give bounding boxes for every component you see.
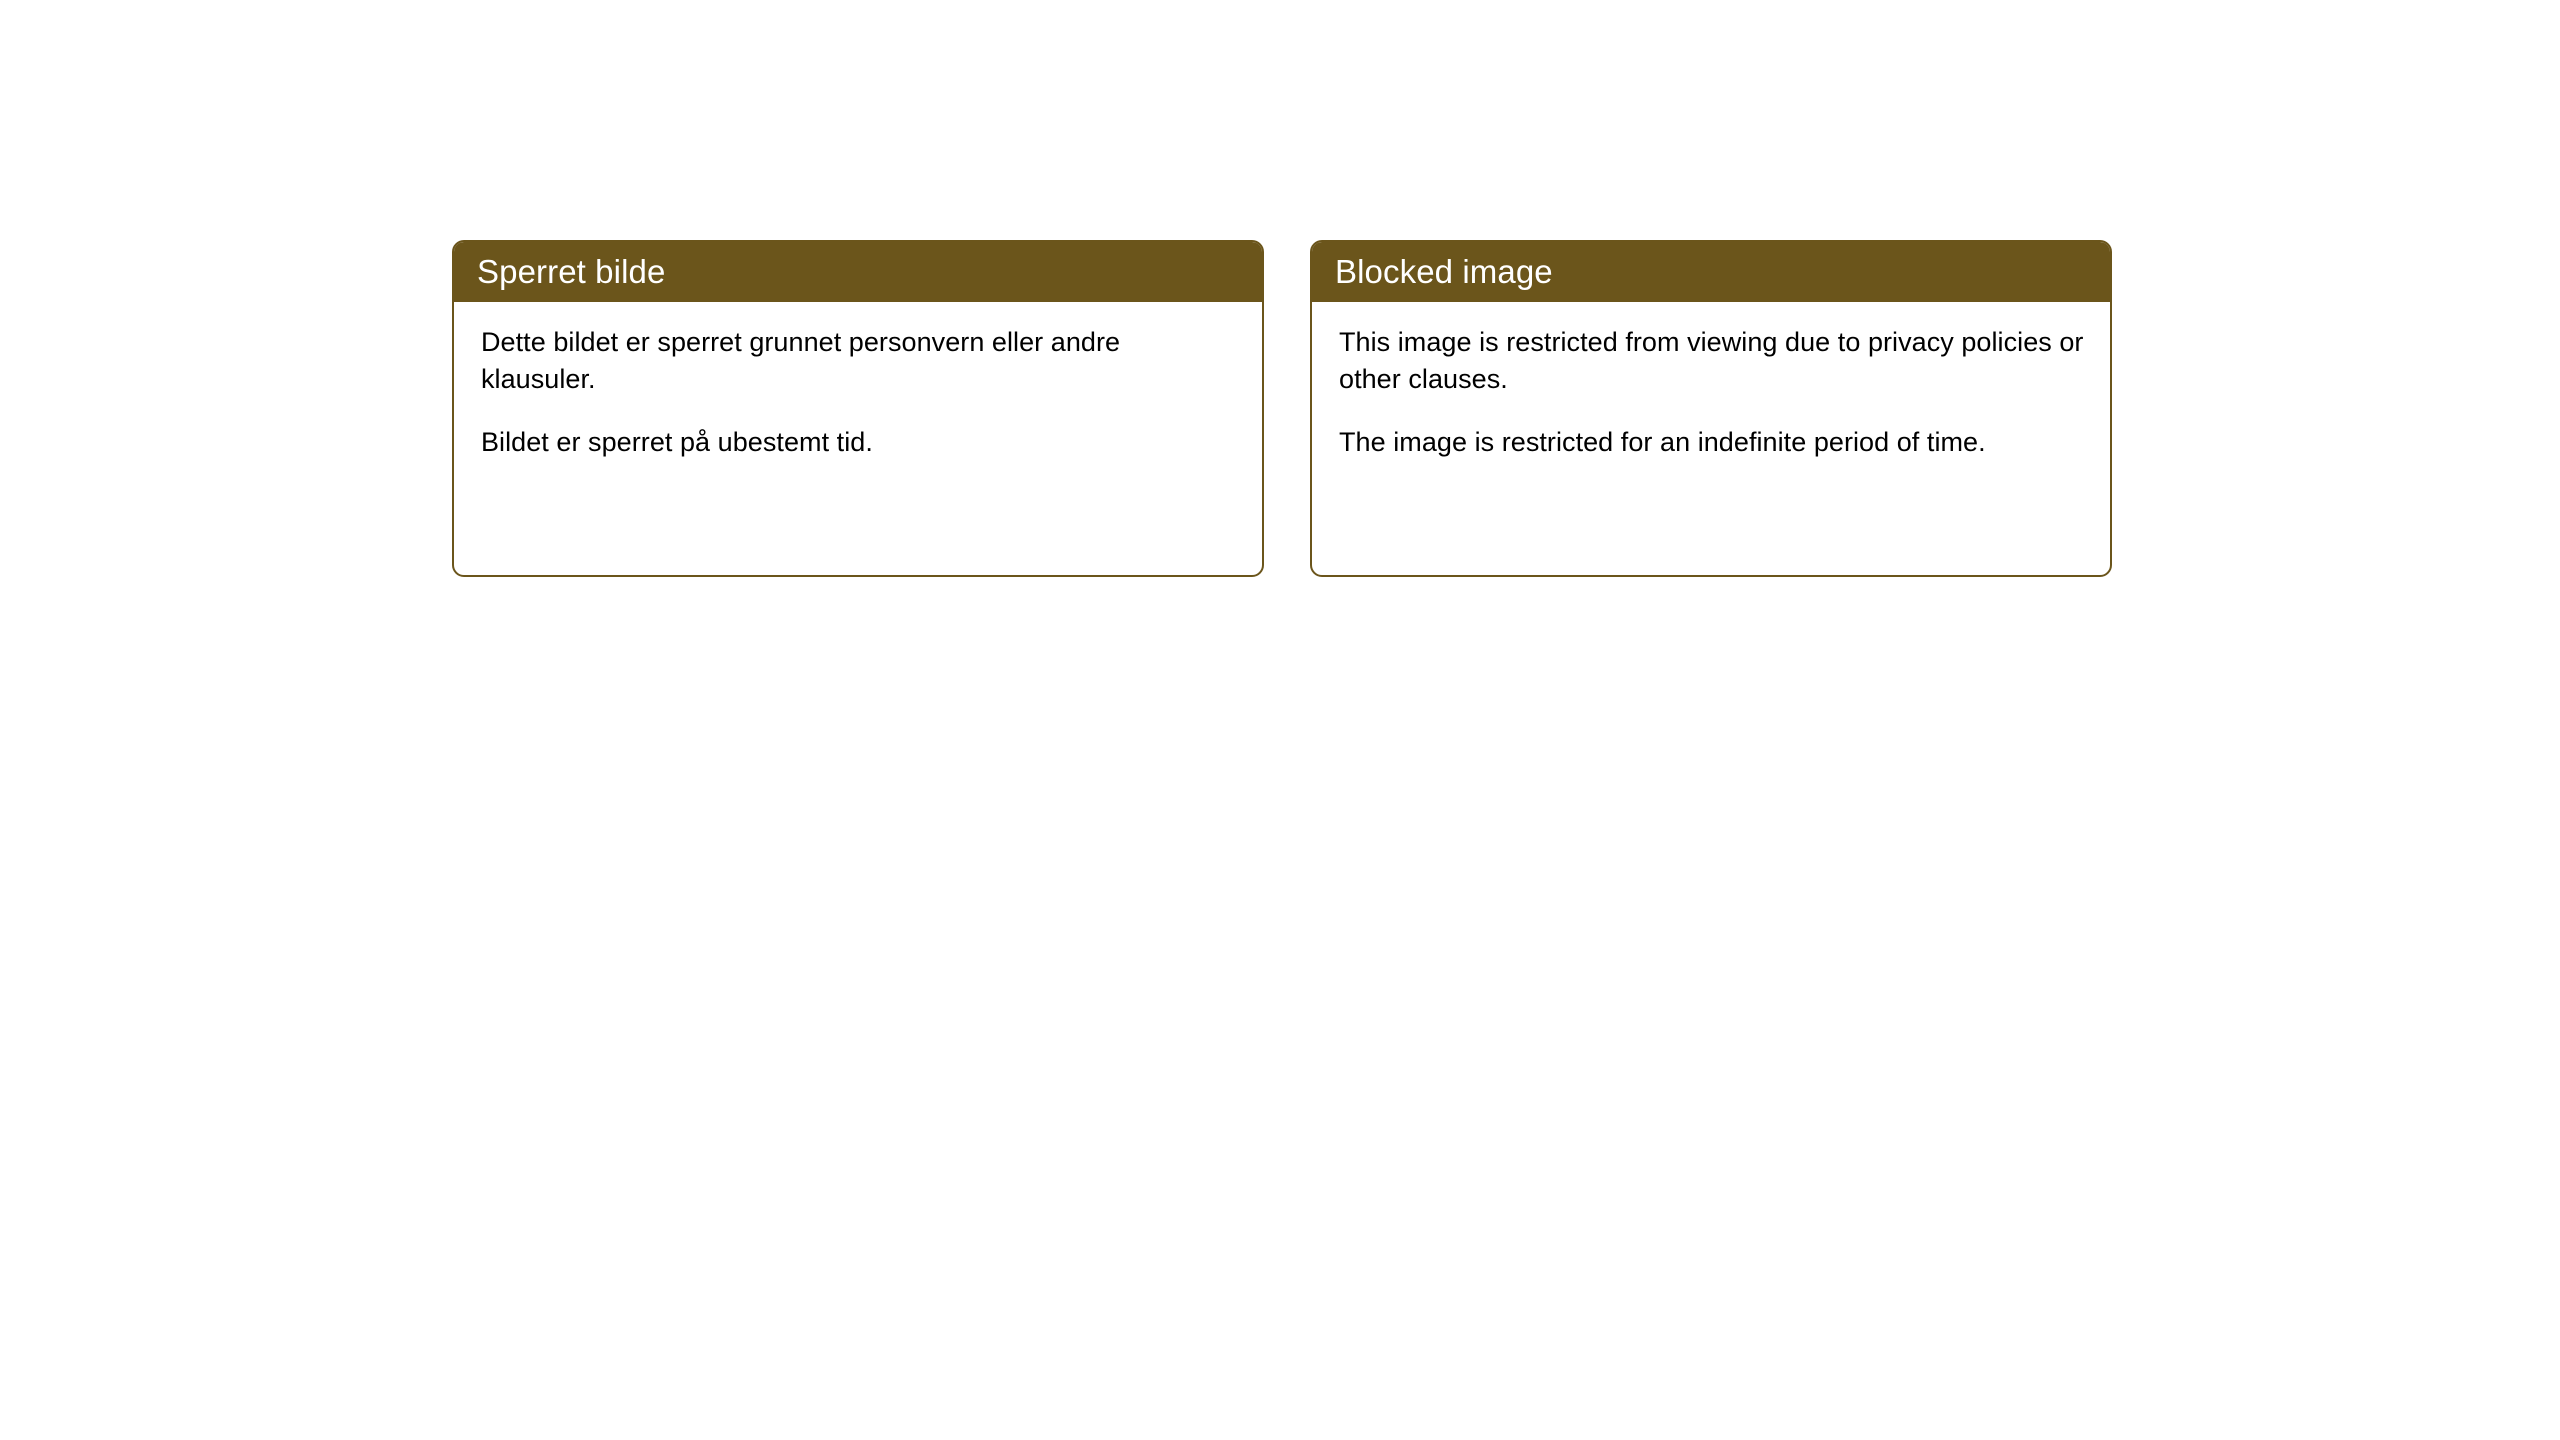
card-paragraph-secondary-no: Bildet er sperret på ubestemt tid. [481, 424, 1238, 461]
card-header-en: Blocked image [1310, 240, 2112, 302]
card-header-no: Sperret bilde [452, 240, 1264, 302]
card-title-no: Sperret bilde [477, 255, 665, 288]
card-body-en: This image is restricted from viewing du… [1312, 302, 2110, 575]
card-title-en: Blocked image [1335, 255, 1553, 288]
card-paragraph-primary-no: Dette bildet er sperret grunnet personve… [481, 324, 1238, 397]
blocked-image-card-no: Sperret bilde Dette bildet er sperret gr… [452, 240, 1264, 577]
card-paragraph-secondary-en: The image is restricted for an indefinit… [1339, 424, 2086, 461]
card-body-no: Dette bildet er sperret grunnet personve… [454, 302, 1262, 575]
card-paragraph-primary-en: This image is restricted from viewing du… [1339, 324, 2086, 397]
notice-stage: Sperret bilde Dette bildet er sperret gr… [0, 0, 2560, 1440]
blocked-image-card-en: Blocked image This image is restricted f… [1310, 240, 2112, 577]
